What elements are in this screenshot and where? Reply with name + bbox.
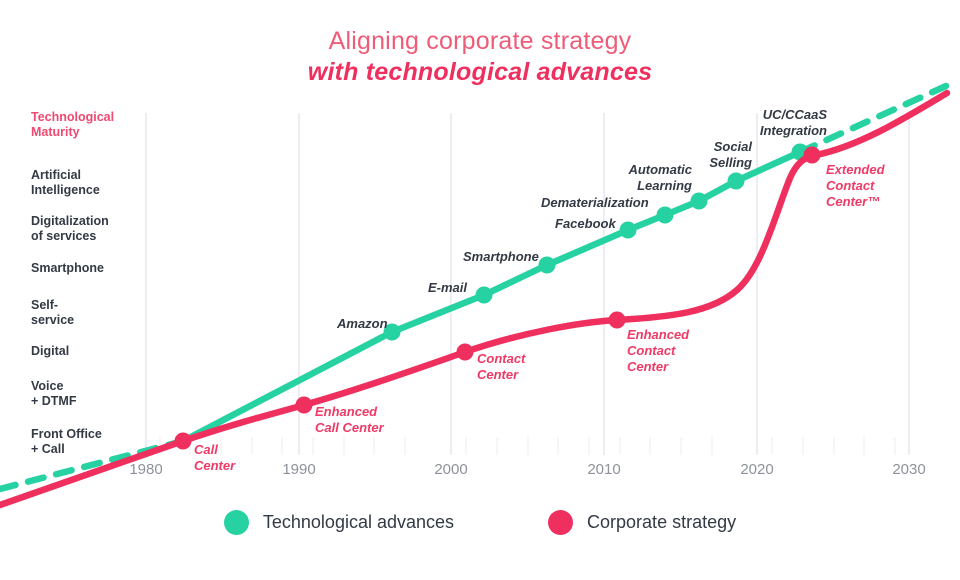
legend-dot-icon-green bbox=[224, 510, 249, 535]
point-label-dematerialization: Dematerialization bbox=[541, 195, 649, 211]
data-point-dematerialization bbox=[657, 207, 674, 224]
point-label-social-selling: Social Selling bbox=[638, 139, 752, 171]
point-label-smartphone: Smartphone bbox=[463, 249, 539, 265]
legend-label-corporate-strategy: Corporate strategy bbox=[587, 512, 736, 533]
data-point-call-center bbox=[175, 433, 192, 450]
data-point-automatic-learning bbox=[691, 193, 708, 210]
data-point-enhanced-call-center bbox=[296, 397, 313, 414]
x-axis-tick-1990: 1990 bbox=[264, 461, 334, 478]
data-point-contact-center bbox=[457, 344, 474, 361]
point-label-uc-ccaas-integration: UC/CCaaS Integration bbox=[690, 107, 827, 139]
legend-item-corporate-strategy[interactable]: Corporate strategy bbox=[548, 510, 736, 535]
minor-gridlines bbox=[160, 437, 895, 455]
data-point-smartphone bbox=[539, 257, 556, 274]
point-label-extended-contact-center: Extended Contact Center™ bbox=[826, 162, 885, 210]
y-axis-label-self-service: Self- service bbox=[31, 298, 74, 329]
x-axis-tick-2030: 2030 bbox=[874, 461, 944, 478]
y-axis-label-smartphone: Smartphone bbox=[31, 261, 104, 276]
legend-label-technological-advances: Technological advances bbox=[263, 512, 454, 533]
y-axis-label-digitalization-of-services: Digitalization of services bbox=[31, 214, 109, 245]
plot-area bbox=[0, 0, 960, 580]
chart-container: Aligning corporate strategy with technol… bbox=[0, 0, 960, 580]
point-label-call-center: Call Center bbox=[194, 442, 235, 474]
point-label-contact-center: Contact Center bbox=[477, 351, 525, 383]
point-label-facebook: Facebook bbox=[555, 216, 616, 232]
chart-legend: Technological advances Corporate strateg… bbox=[0, 510, 960, 535]
legend-dot-icon-pink bbox=[548, 510, 573, 535]
y-axis-label-artificial-intelligence: Artificial Intelligence bbox=[31, 168, 100, 199]
series-technological-advances bbox=[0, 86, 946, 489]
x-axis-tick-2020: 2020 bbox=[722, 461, 792, 478]
point-label-email: E-mail bbox=[428, 280, 467, 296]
data-point-facebook bbox=[620, 222, 637, 239]
y-axis-label-voice-dtmf: Voice + DTMF bbox=[31, 379, 76, 410]
legend-item-technological-advances[interactable]: Technological advances bbox=[224, 510, 454, 535]
x-axis-tick-2010: 2010 bbox=[569, 461, 639, 478]
y-axis-label-digital: Digital bbox=[31, 344, 69, 359]
data-point-extended-contact-center bbox=[804, 147, 821, 164]
data-point-social-selling bbox=[728, 173, 745, 190]
y-axis-label-technological-maturity: Technological Maturity bbox=[31, 110, 114, 141]
y-axis-label-front-office-call: Front Office + Call bbox=[31, 427, 102, 458]
point-label-amazon: Amazon bbox=[337, 316, 388, 332]
data-point-email bbox=[476, 287, 493, 304]
point-label-enhanced-contact-center: Enhanced Contact Center bbox=[627, 327, 689, 375]
x-axis-tick-2000: 2000 bbox=[416, 461, 486, 478]
point-label-enhanced-call-center: Enhanced Call Center bbox=[315, 404, 384, 436]
x-axis-tick-1980: 1980 bbox=[111, 461, 181, 478]
data-point-enhanced-contact-center bbox=[609, 312, 626, 329]
